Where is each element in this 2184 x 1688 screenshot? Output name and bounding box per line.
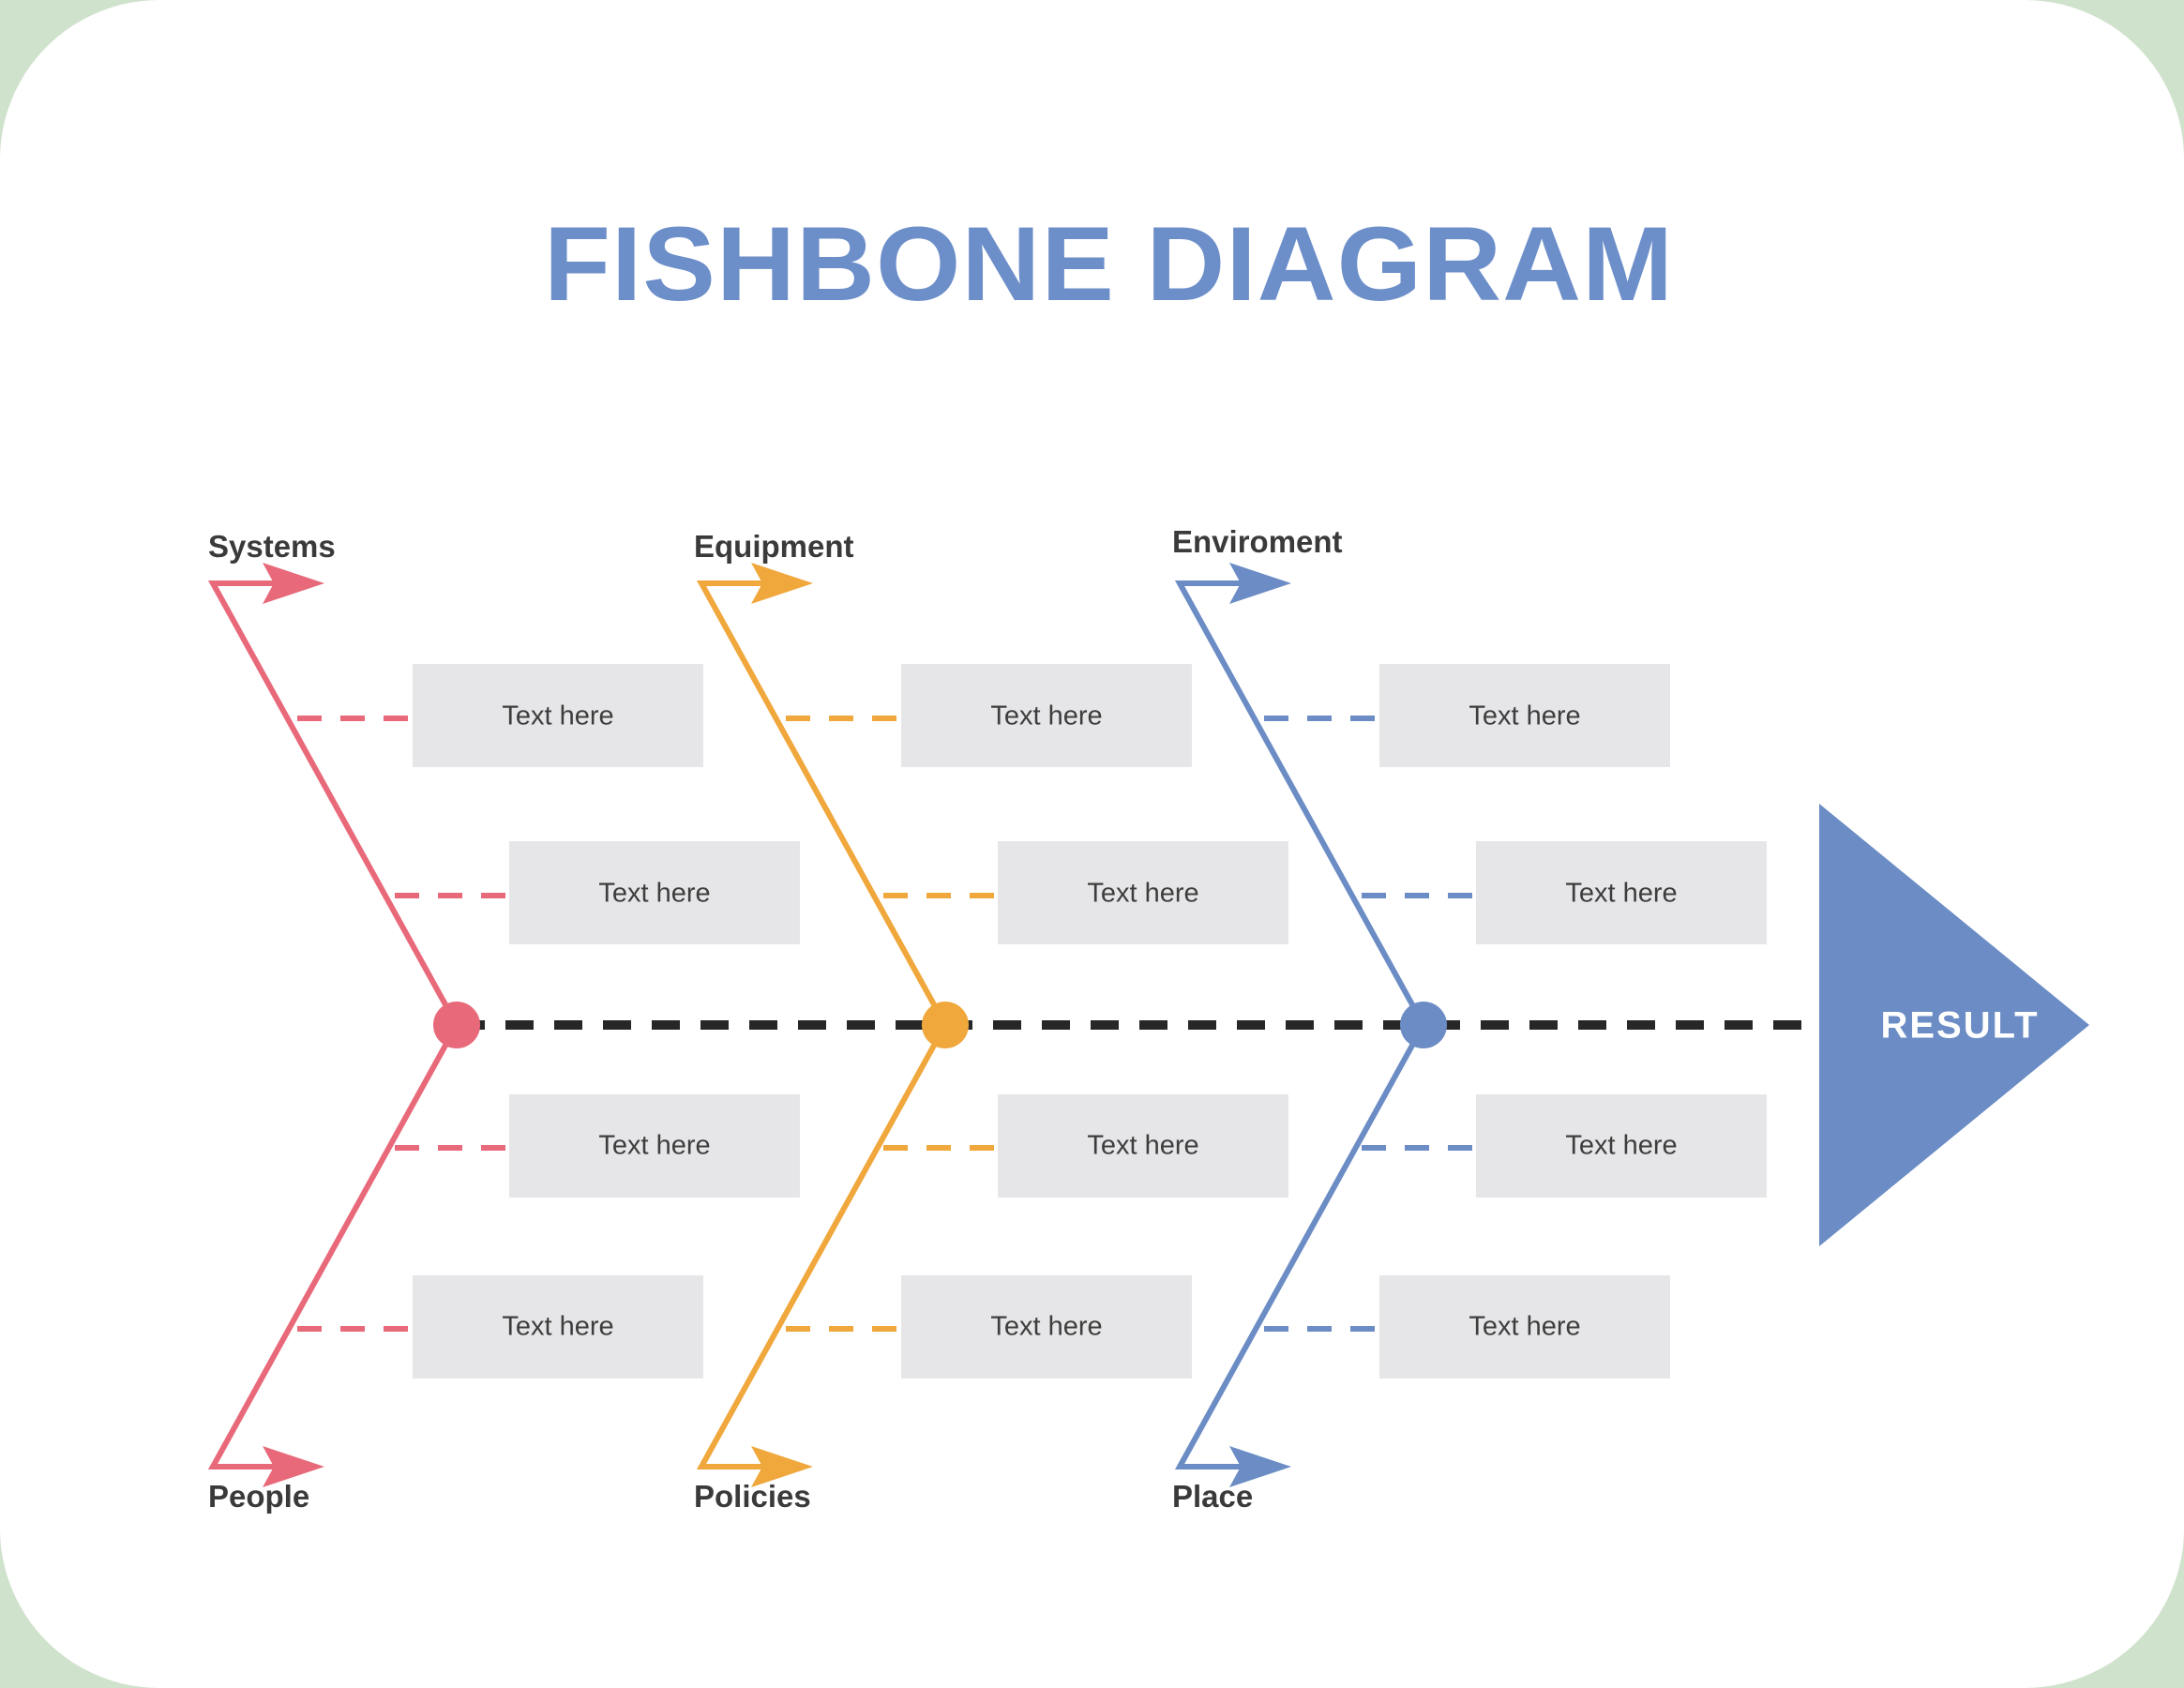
branch-3-row-2-text: Text here — [1565, 879, 1677, 909]
branch-1-row-3-text: Text here — [598, 1131, 710, 1161]
branch-3-top-label: Enviroment — [1172, 524, 1343, 559]
branch-2-lower-bone — [701, 1025, 945, 1467]
branch-1-row-1-text: Text here — [502, 701, 613, 731]
branch-1-node-dot[interactable] — [433, 1002, 480, 1048]
branch-1-lower-bone — [213, 1025, 457, 1467]
branch-3-upper-bone — [1180, 583, 1423, 1025]
branch-1-upper-bone — [213, 583, 457, 1025]
branch-2-row-3-text: Text here — [1087, 1131, 1198, 1161]
branch-enviroment-place: Enviroment Place Text here Text here Tex… — [1172, 524, 1767, 1514]
branch-1-bottom-label: People — [208, 1479, 309, 1514]
branch-2-node-dot[interactable] — [922, 1002, 969, 1048]
branch-2-bottom-label: Policies — [694, 1479, 811, 1514]
result-label: RESULT — [1880, 1005, 2039, 1047]
branch-2-row-2-text: Text here — [1087, 879, 1198, 909]
branch-1-row-4-text: Text here — [502, 1312, 613, 1342]
branch-3-row-1-text: Text here — [1469, 701, 1580, 731]
branch-3-lower-bone — [1180, 1025, 1423, 1467]
page-background: FISHBONE DIAGRAM RESULT Systems People T… — [0, 0, 2184, 1688]
branch-2-upper-bone — [701, 583, 945, 1025]
branch-3-node-dot[interactable] — [1400, 1002, 1447, 1048]
branch-3-bottom-label: Place — [1172, 1479, 1253, 1514]
branch-2-top-label: Equipment — [694, 529, 854, 564]
branch-3-row-4-text: Text here — [1469, 1312, 1580, 1342]
branch-3-row-3-text: Text here — [1565, 1131, 1677, 1161]
branch-1-top-label: Systems — [208, 529, 336, 564]
fishbone-diagram: FISHBONE DIAGRAM RESULT Systems People T… — [0, 0, 2184, 1688]
branch-1-row-2-text: Text here — [598, 879, 710, 909]
branch-2-row-4-text: Text here — [990, 1312, 1102, 1342]
page-title: FISHBONE DIAGRAM — [544, 205, 1674, 323]
branch-2-row-1-text: Text here — [990, 701, 1102, 731]
